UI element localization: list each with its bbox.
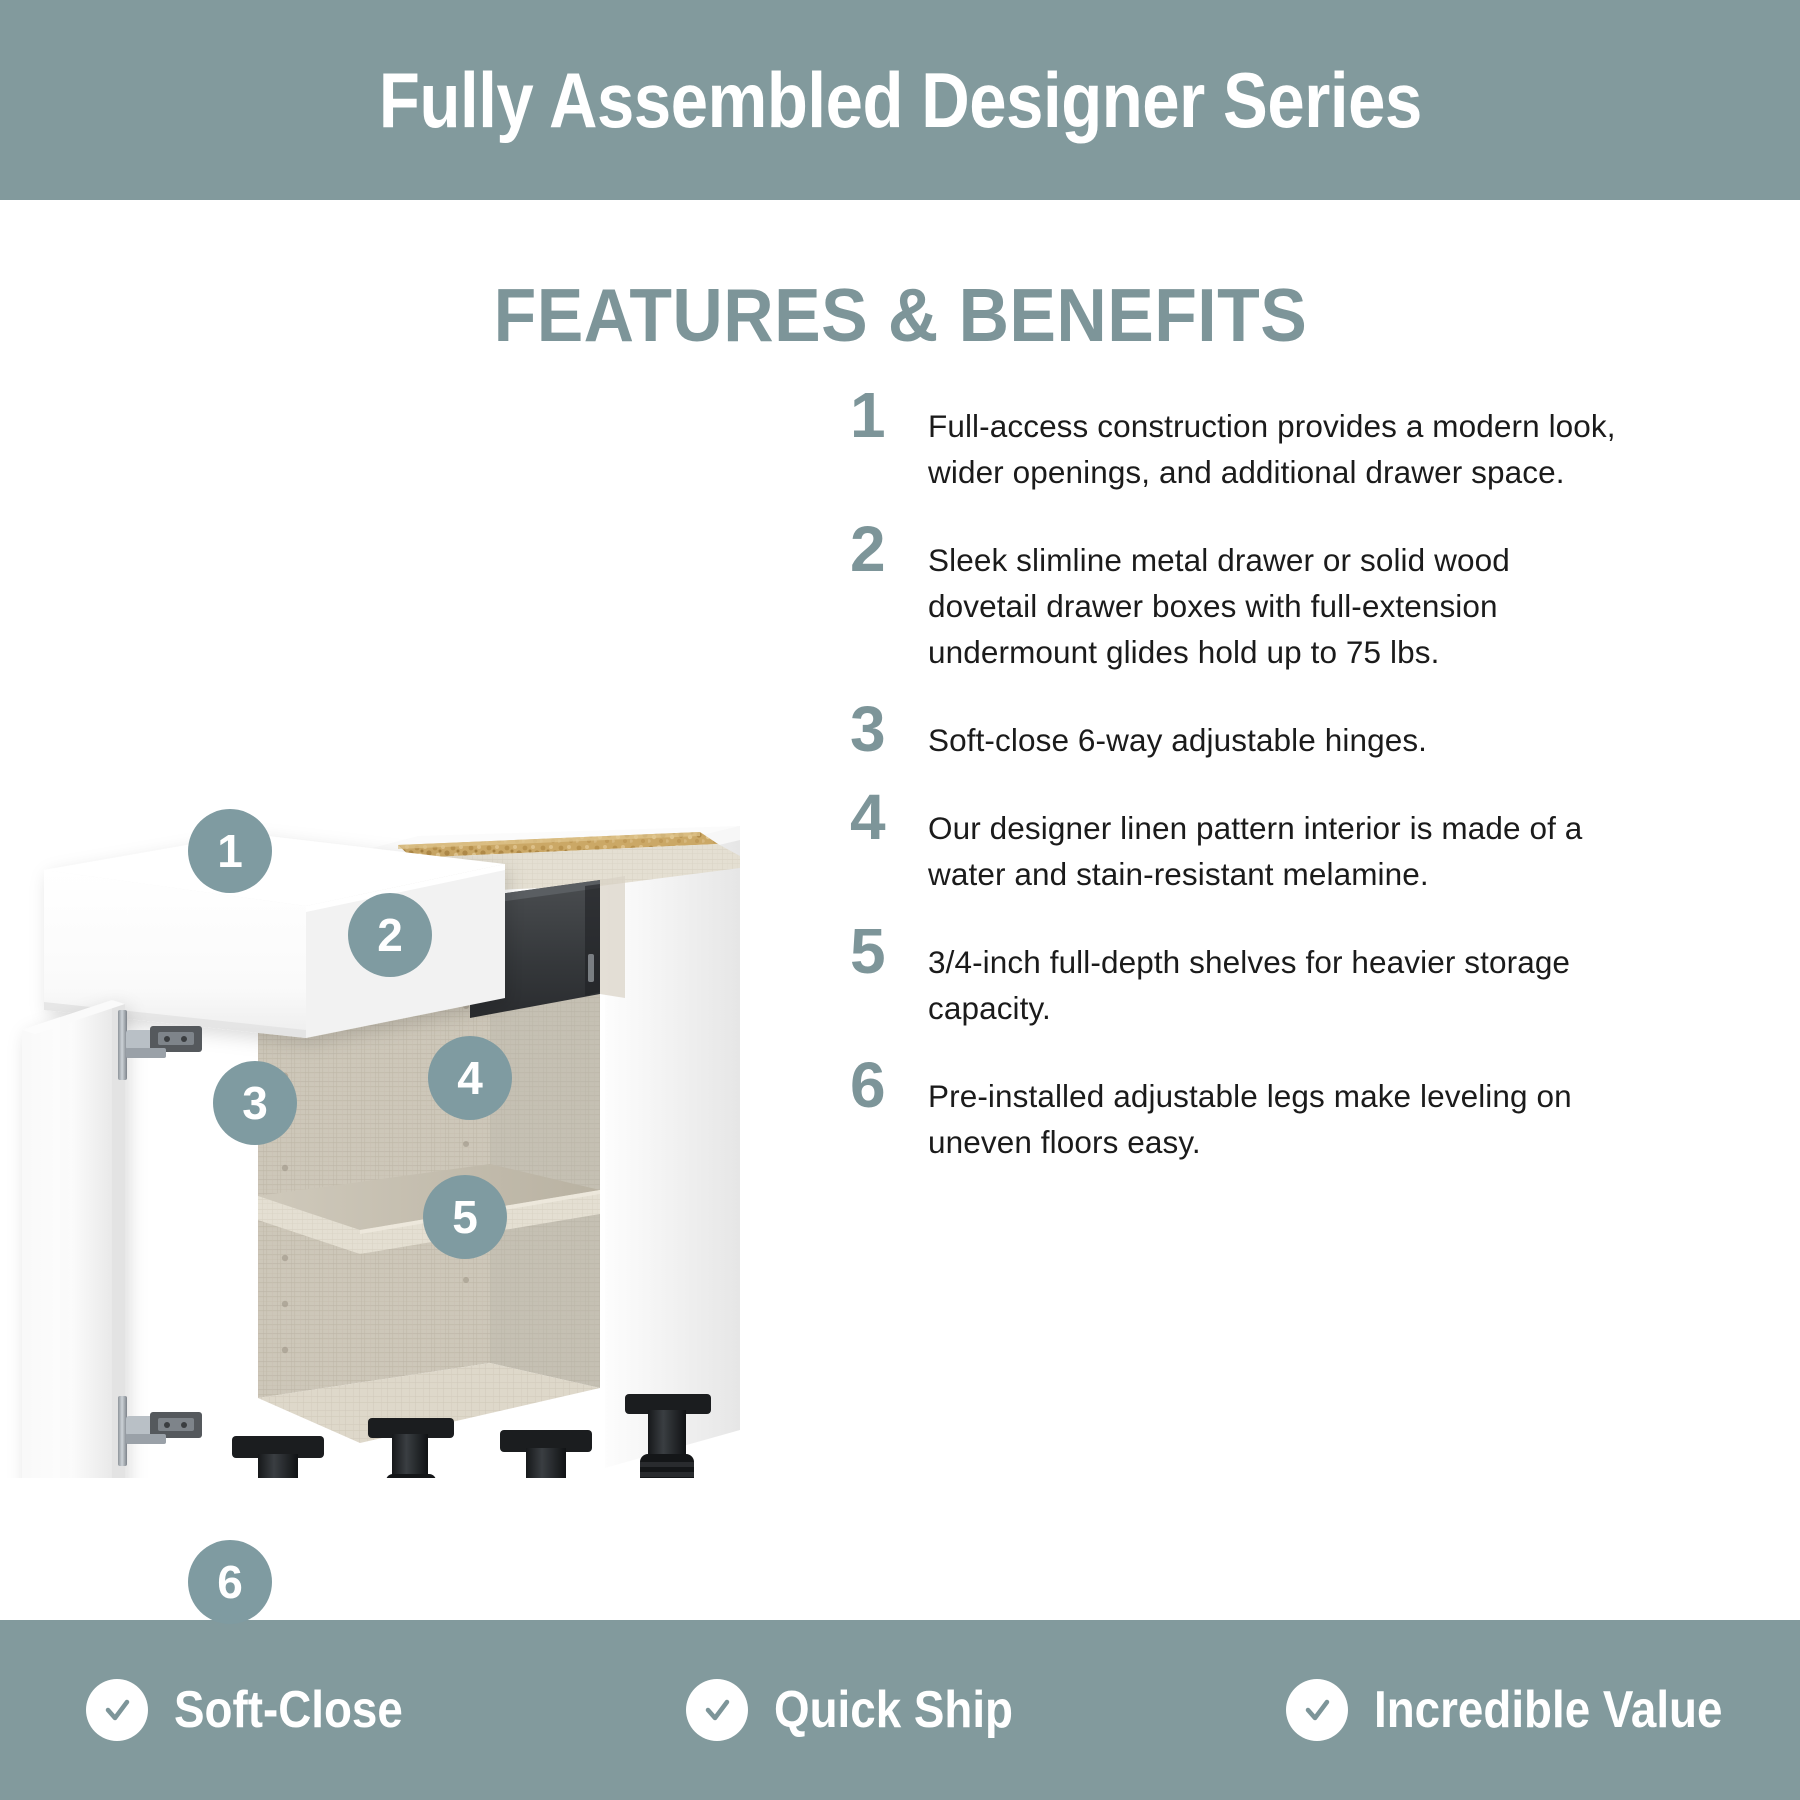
product-feature-infographic: Fully Assembled Designer Series FEATURES… xyxy=(0,0,1800,1800)
adjustable-leg xyxy=(500,1430,592,1478)
adjustable-leg xyxy=(232,1436,324,1478)
footer-bar: Soft-Close Quick Ship Incredible Value xyxy=(0,1620,1800,1800)
feature-item-1: 1 Full-access construction provides a mo… xyxy=(850,382,1740,496)
feature-text-3: Soft-close 6-way adjustable hinges. xyxy=(928,696,1427,764)
page-title: Fully Assembled Designer Series xyxy=(379,55,1422,146)
feature-item-5: 5 3/4-inch full-depth shelves for heavie… xyxy=(850,918,1740,1032)
feature-number-6: 6 xyxy=(850,1052,902,1115)
feature-text-2: Sleek slimline metal drawer or solid woo… xyxy=(928,516,1628,676)
feature-item-4: 4 Our designer linen pattern interior is… xyxy=(850,784,1740,898)
cabinet-figure: 1 2 3 4 5 6 xyxy=(0,358,850,1620)
callout-badge-6: 6 xyxy=(188,1540,272,1624)
feature-number-4: 4 xyxy=(850,784,902,847)
feature-item-2: 2 Sleek slimline metal drawer or solid w… xyxy=(850,516,1740,676)
check-circle-icon xyxy=(1286,1679,1348,1741)
cabinet-door xyxy=(22,1000,125,1478)
feature-text-5: 3/4-inch full-depth shelves for heavier … xyxy=(928,918,1628,1032)
footer-label-incredible-value: Incredible Value xyxy=(1374,1680,1722,1740)
callout-badge-1: 1 xyxy=(188,809,272,893)
adjustable-leg xyxy=(368,1418,454,1478)
callout-badge-3: 3 xyxy=(213,1061,297,1145)
features-list-column: 1 Full-access construction provides a mo… xyxy=(850,358,1800,1620)
feature-number-3: 3 xyxy=(850,696,902,759)
footer-item-quick-ship: Quick Ship xyxy=(600,1679,1200,1741)
cabinet-right-side-panel xyxy=(605,826,740,1468)
main-content: 1 2 3 4 5 6 1 Full-access construction p… xyxy=(0,358,1800,1620)
footer-label-quick-ship: Quick Ship xyxy=(774,1680,1013,1740)
section-title: FEATURES & BENEFITS xyxy=(493,272,1307,358)
feature-number-1: 1 xyxy=(850,382,902,445)
header-bar: Fully Assembled Designer Series xyxy=(0,0,1800,200)
feature-list: 1 Full-access construction provides a mo… xyxy=(850,382,1740,1166)
feature-item-6: 6 Pre-installed adjustable legs make lev… xyxy=(850,1052,1740,1166)
footer-item-soft-close: Soft-Close xyxy=(0,1679,600,1741)
footer-label-soft-close: Soft-Close xyxy=(174,1680,403,1740)
feature-number-2: 2 xyxy=(850,516,902,579)
feature-text-6: Pre-installed adjustable legs make level… xyxy=(928,1052,1628,1166)
feature-number-5: 5 xyxy=(850,918,902,981)
feature-text-4: Our designer linen pattern interior is m… xyxy=(928,784,1628,898)
section-title-area: FEATURES & BENEFITS xyxy=(0,200,1800,358)
callout-badge-5: 5 xyxy=(423,1175,507,1259)
feature-item-3: 3 Soft-close 6-way adjustable hinges. xyxy=(850,696,1740,764)
feature-text-1: Full-access construction provides a mode… xyxy=(928,382,1628,496)
callout-badge-4: 4 xyxy=(428,1036,512,1120)
check-circle-icon xyxy=(86,1679,148,1741)
footer-item-incredible-value: Incredible Value xyxy=(1200,1679,1800,1741)
callout-badge-2: 2 xyxy=(348,893,432,977)
check-circle-icon xyxy=(686,1679,748,1741)
